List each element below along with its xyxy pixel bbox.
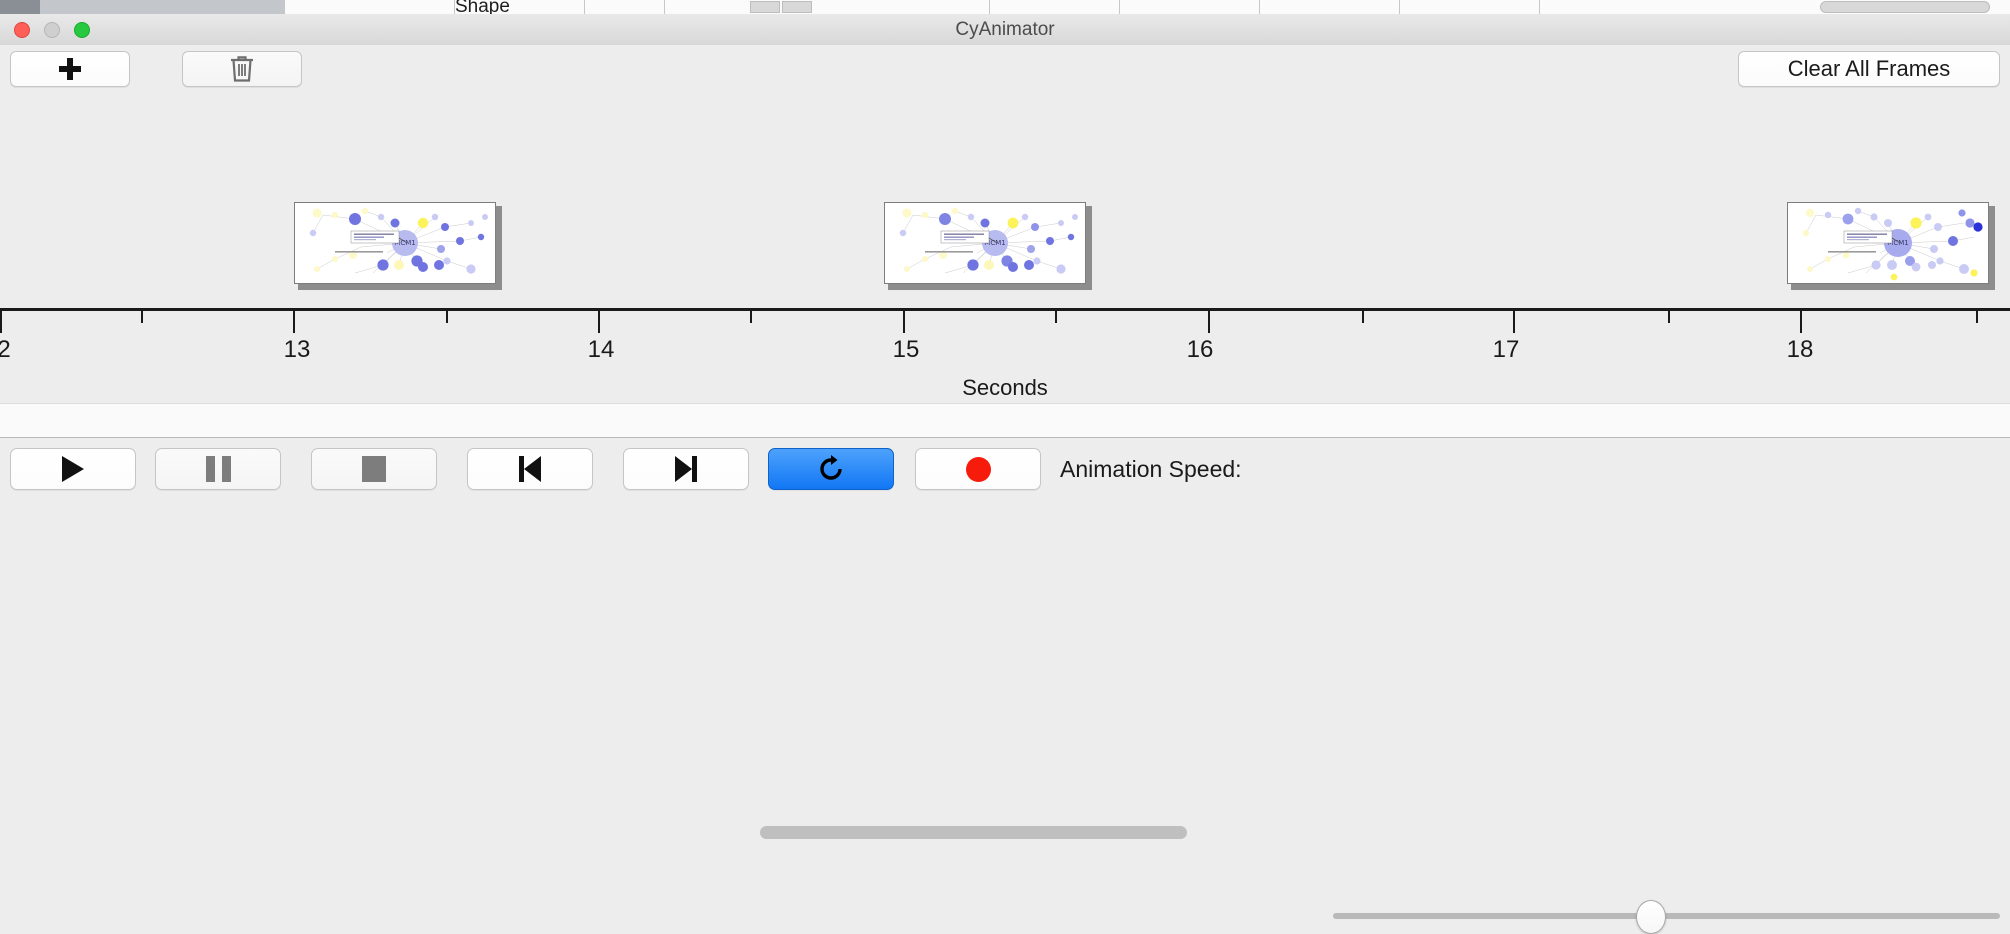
record-button[interactable] xyxy=(915,448,1041,490)
add-frame-button[interactable] xyxy=(10,51,130,87)
timeline-axis xyxy=(0,308,2010,311)
background-cell-7 xyxy=(1260,0,1400,14)
axis-tick-label: 18 xyxy=(1787,336,1814,364)
axis-major-tick xyxy=(1513,311,1515,333)
frame-thumbnail-3[interactable]: MCM1 xyxy=(1787,202,1995,290)
axis-title: Seconds xyxy=(0,375,2010,401)
axis-major-tick xyxy=(0,311,2,333)
skip-to-start-icon xyxy=(519,456,541,482)
axis-major-tick xyxy=(598,311,600,333)
axis-tick-label: 15 xyxy=(893,336,920,364)
window-title: CyAnimator xyxy=(0,14,2010,45)
loop-icon xyxy=(816,454,846,484)
title-bar: CyAnimator xyxy=(0,14,2010,46)
playback-control-bar: Animation Speed: xyxy=(0,437,2010,511)
skip-to-end-icon xyxy=(675,456,697,482)
background-cell-8 xyxy=(1400,0,1540,14)
axis-minor-tick xyxy=(141,311,143,323)
scrollbar-thumb[interactable] xyxy=(760,826,1187,839)
frame-thumbnail-1[interactable]: MCM1 xyxy=(294,202,502,290)
background-window-toolbar-panel xyxy=(40,0,285,14)
network-graph-icon: MCM1 xyxy=(1788,203,1988,283)
axis-major-tick xyxy=(1800,311,1802,333)
background-window-dark-panel xyxy=(0,0,40,14)
axis-minor-tick xyxy=(1055,311,1057,323)
background-scroll-chip xyxy=(1820,1,1990,13)
background-cell-5 xyxy=(990,0,1120,14)
axis-major-tick xyxy=(903,311,905,333)
animation-speed-slider[interactable] xyxy=(1333,913,2000,919)
axis-tick-label: 2 xyxy=(0,336,11,364)
background-chip-1 xyxy=(750,1,780,13)
animation-speed-label: Animation Speed: xyxy=(1060,448,1242,490)
record-icon xyxy=(966,457,991,482)
axis-minor-tick xyxy=(1362,311,1364,323)
delete-frame-button[interactable] xyxy=(182,51,302,87)
axis-minor-tick xyxy=(750,311,752,323)
cyanimator-window: Shape CyAnimator Clear All Frames xyxy=(0,0,2010,510)
clear-all-frames-button[interactable]: Clear All Frames xyxy=(1738,51,2000,87)
background-cell-1 xyxy=(285,0,455,14)
plus-icon xyxy=(59,58,81,80)
pause-icon xyxy=(206,456,231,482)
toolbar: Clear All Frames xyxy=(0,45,2010,94)
stop-icon xyxy=(362,456,386,482)
pause-button[interactable] xyxy=(155,448,281,490)
axis-tick-label: 13 xyxy=(284,336,311,364)
axis-tick-label: 14 xyxy=(588,336,615,364)
axis-minor-tick xyxy=(1976,311,1978,323)
play-button[interactable] xyxy=(10,448,136,490)
background-cell-4 xyxy=(880,0,990,14)
axis-major-tick xyxy=(1208,311,1210,333)
axis-minor-tick xyxy=(446,311,448,323)
first-frame-button[interactable] xyxy=(467,448,593,490)
frame-image: MCM1 xyxy=(294,202,496,284)
network-graph-icon: MCM1 xyxy=(885,203,1085,283)
last-frame-button[interactable] xyxy=(623,448,749,490)
clear-all-frames-label: Clear All Frames xyxy=(1788,56,1951,82)
play-icon xyxy=(62,456,84,482)
frame-thumbnail-2[interactable]: MCM1 xyxy=(884,202,1092,290)
background-window-strip: Shape xyxy=(0,0,2010,15)
loop-button[interactable] xyxy=(768,448,894,490)
frame-image: MCM1 xyxy=(884,202,1086,284)
stop-button[interactable] xyxy=(311,448,437,490)
frame-image: MCM1 xyxy=(1787,202,1989,284)
network-graph-icon: MCM1 xyxy=(295,203,495,283)
background-cell-6 xyxy=(1120,0,1260,14)
axis-tick-label: 17 xyxy=(1493,336,1520,364)
timeline-scrollbar[interactable] xyxy=(0,403,2010,438)
trash-icon xyxy=(229,55,255,83)
timeline-panel[interactable]: MCM1 xyxy=(0,93,2010,403)
axis-tick-label: 16 xyxy=(1187,336,1214,364)
axis-major-tick xyxy=(293,311,295,333)
axis-minor-tick xyxy=(1668,311,1670,323)
background-cell-3 xyxy=(585,0,665,14)
background-chip-2 xyxy=(782,1,812,13)
animation-speed-slider-thumb[interactable] xyxy=(1636,900,1666,934)
